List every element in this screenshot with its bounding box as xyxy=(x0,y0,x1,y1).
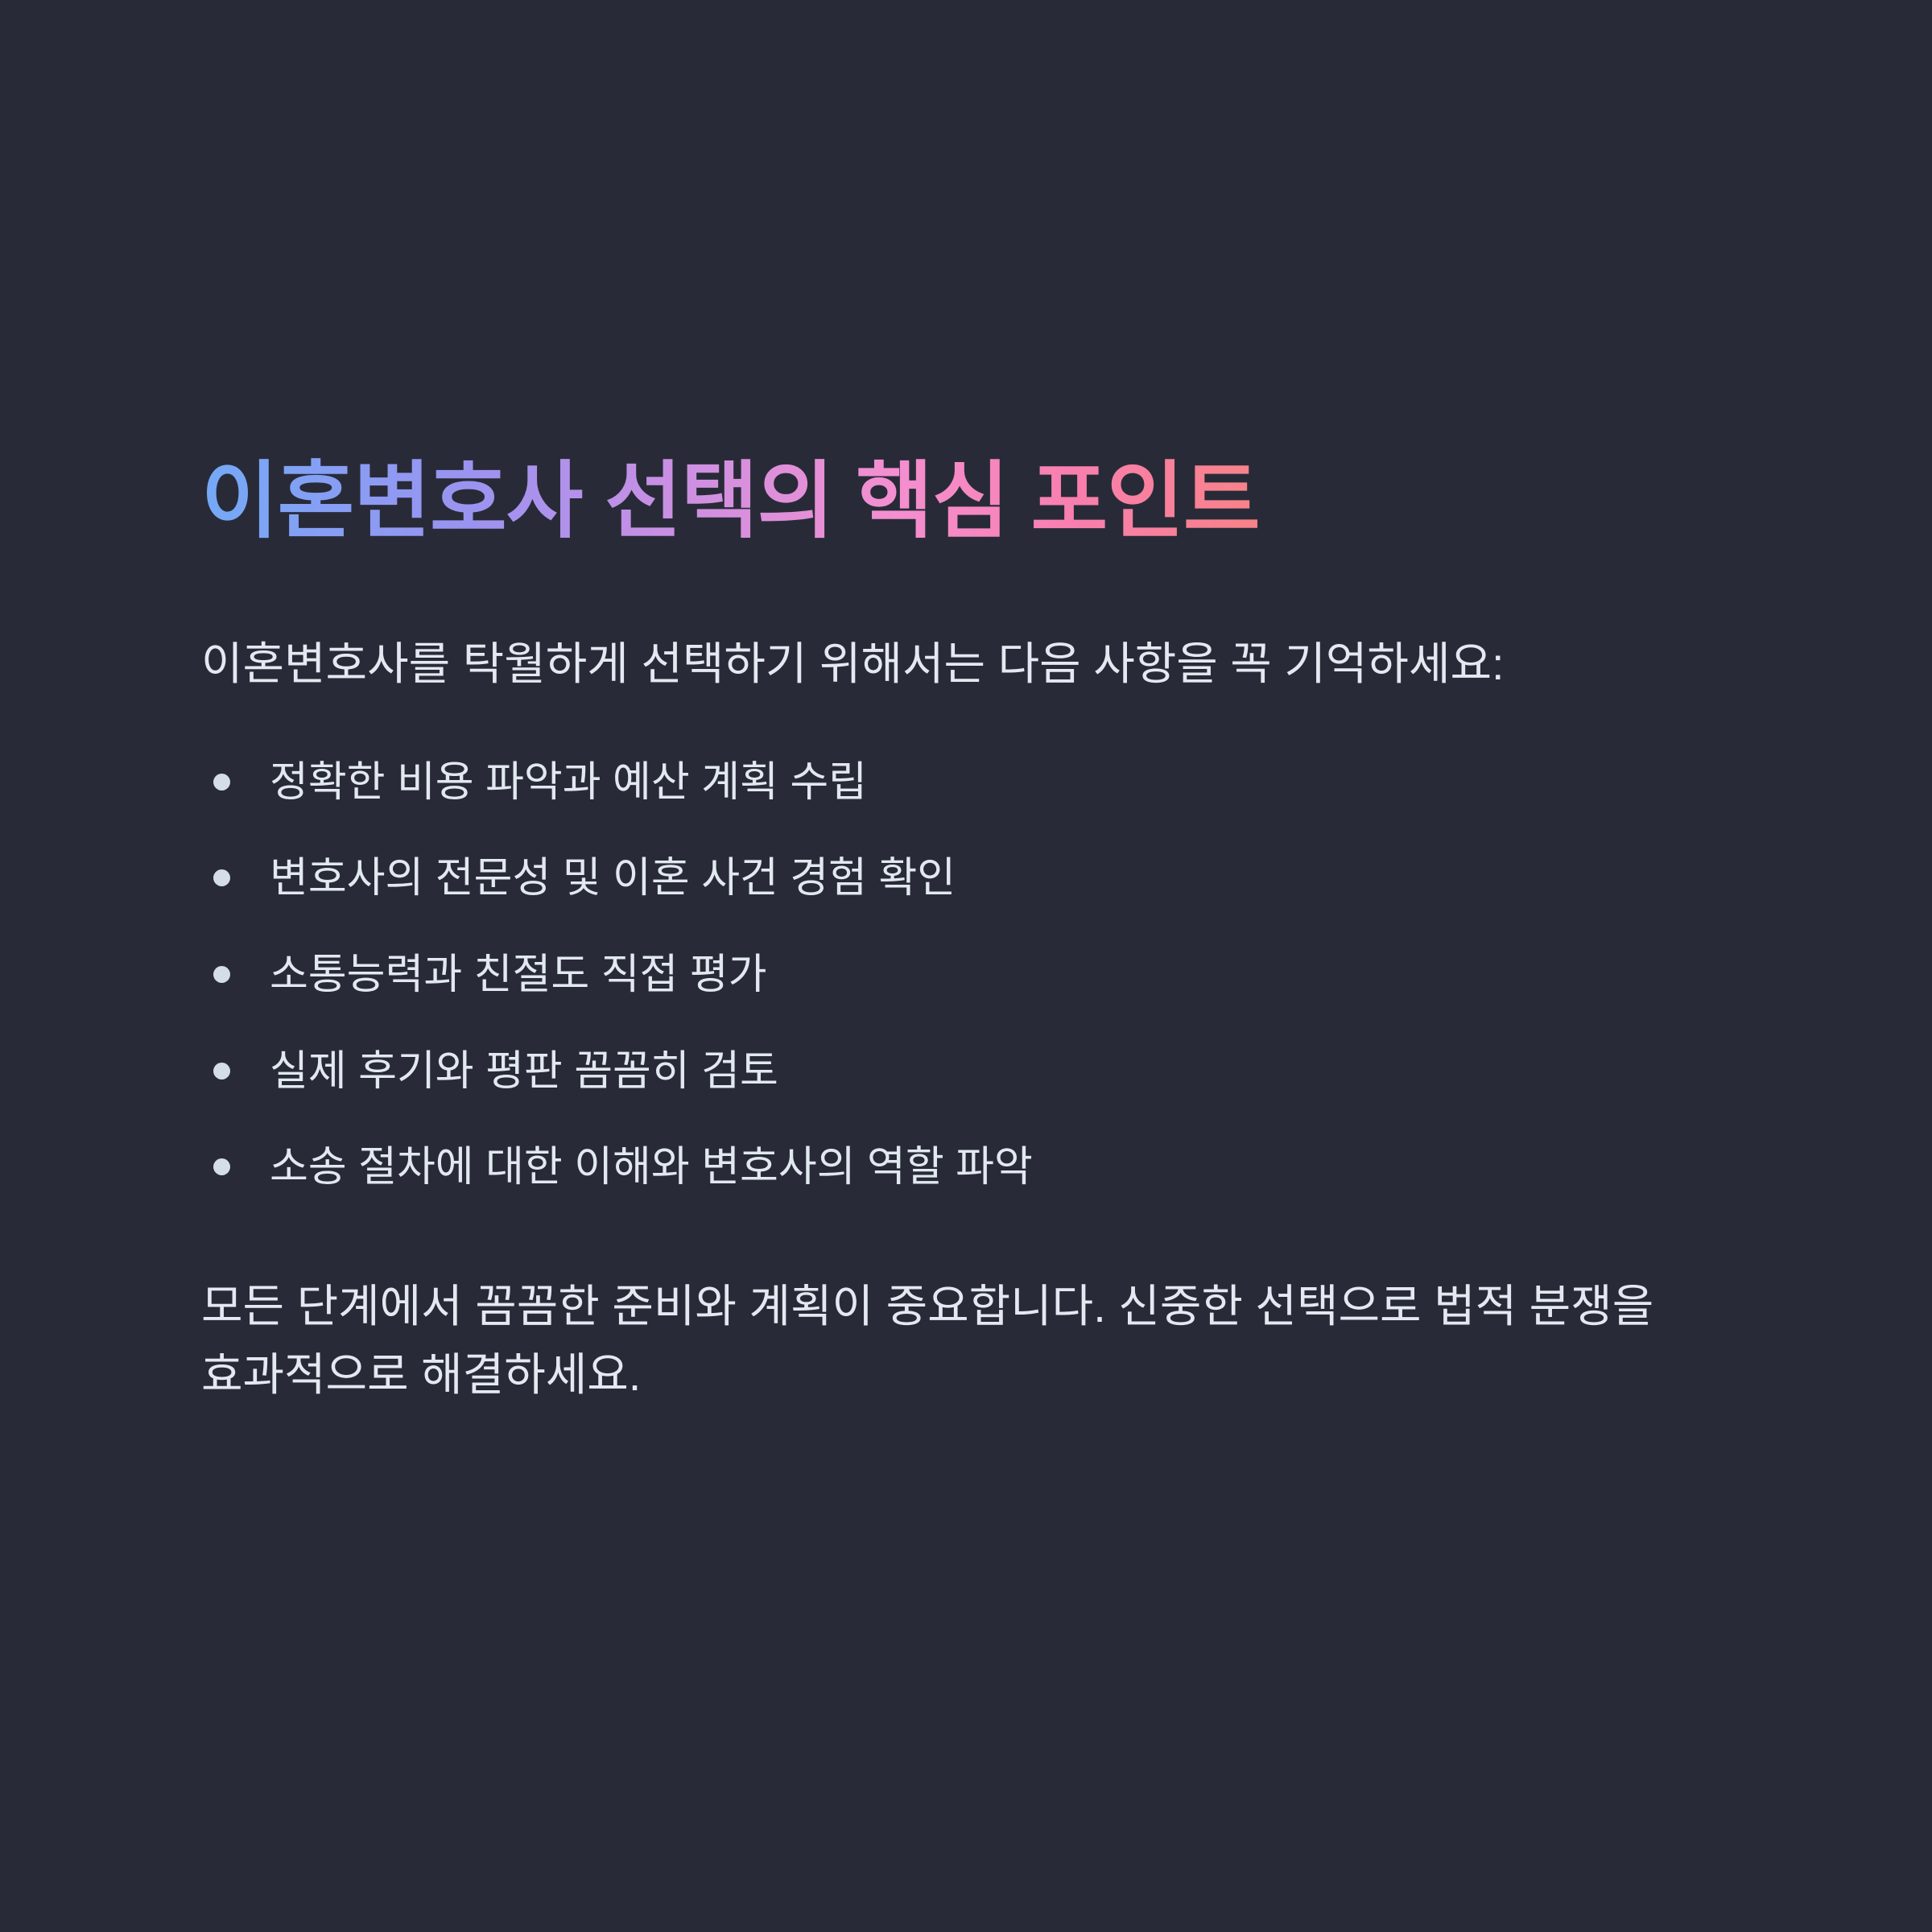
list-item: 정확한 비용 파악과 예산 계획 수립 xyxy=(201,756,1707,810)
list-item: 실제 후기와 평판 꼼꼼히 검토 xyxy=(201,1045,1707,1099)
list-item: 소송 절차에 대한 이해와 변호사의 역할 파악 xyxy=(201,1141,1707,1195)
list-item-label: 소송 절차에 대한 이해와 변호사의 역할 파악 xyxy=(270,1144,1033,1191)
bullet-dot-icon xyxy=(213,1158,230,1175)
closing-paragraph: 모든 단계에서 꼼꼼한 준비와 계획이 중요합니다. 신중한 선택으로 법적 분… xyxy=(201,1272,1707,1409)
list-item-label: 소통능력과 친절도 직접 평가 xyxy=(270,952,766,998)
key-points-list: 정확한 비용 파악과 예산 계획 수립 변호사의 전문성 및 이혼 사건 경험 … xyxy=(201,756,1707,1195)
list-item: 소통능력과 친절도 직접 평가 xyxy=(201,948,1707,1002)
bullet-dot-icon xyxy=(213,1063,230,1080)
slide-container: 이혼변호사 선택의 핵심 포인트 이혼변호사를 탁월하게 선택하기 위해서는 다… xyxy=(0,0,1932,1932)
intro-paragraph: 이혼변호사를 탁월하게 선택하기 위해서는 다음 사항을 꼭 기억하세요: xyxy=(201,630,1707,698)
bullet-dot-icon xyxy=(213,966,230,983)
list-item-label: 정확한 비용 파악과 예산 계획 수립 xyxy=(270,759,867,806)
list-item-label: 변호사의 전문성 및 이혼 사건 경험 확인 xyxy=(270,855,956,902)
page-title: 이혼변호사 선택의 핵심 포인트 xyxy=(201,451,1707,553)
bullet-dot-icon xyxy=(213,869,230,886)
list-item: 변호사의 전문성 및 이혼 사건 경험 확인 xyxy=(201,852,1707,906)
bullet-dot-icon xyxy=(213,774,230,791)
list-item-label: 실제 후기와 평판 꼼꼼히 검토 xyxy=(270,1048,778,1095)
